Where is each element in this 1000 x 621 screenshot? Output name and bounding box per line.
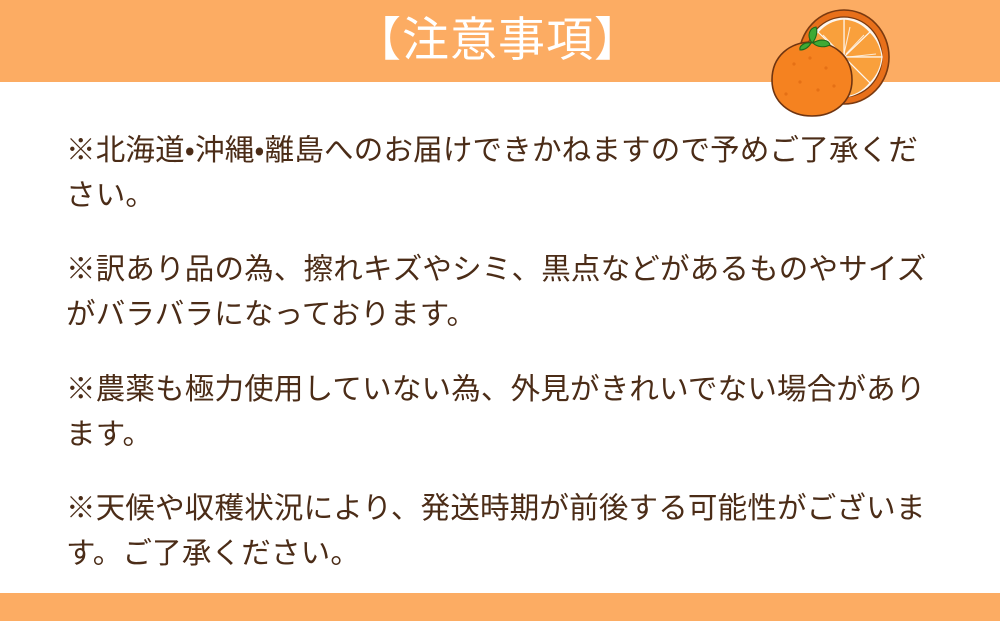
- notice-list: ※北海道・沖縄・離島へのお届けできかねますので予めご了承ください。 ※訳あり品の…: [66, 99, 946, 621]
- notice-item: ※訳あり品の為、擦れキズやシミ、黒点などがあるものやサイズがバラバラになっており…: [66, 248, 946, 338]
- notice-item: ※農薬も極力使用していない為、外見がきれいでない場合があります。: [66, 368, 946, 458]
- footer-band: [0, 593, 1000, 621]
- notice-page: 【注意事項】: [0, 0, 1000, 621]
- notice-item: ※天候や収穫状況により、発送時期が前後する可能性がございます。ご了承ください。: [66, 487, 946, 577]
- page-title: 【注意事項】: [0, 0, 1000, 82]
- notice-item: ※北海道・沖縄・離島へのお届けできかねますので予めご了承ください。: [66, 129, 946, 219]
